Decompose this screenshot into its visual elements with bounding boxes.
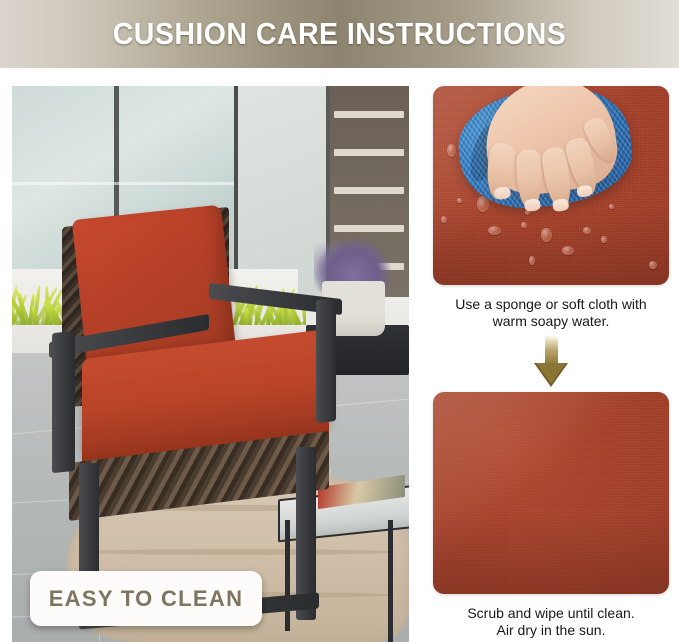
patio-scene bbox=[12, 86, 409, 642]
chair-arm-post-right bbox=[316, 298, 336, 424]
content-area: EASY TO CLEAN bbox=[0, 68, 679, 642]
step-2-caption-line-2: Air dry in the sun. bbox=[433, 622, 669, 639]
step-1-image bbox=[433, 86, 669, 285]
step-1-caption: Use a sponge or soft cloth with warm soa… bbox=[433, 296, 669, 330]
step-2-caption-line-1: Scrub and wipe until clean. bbox=[433, 605, 669, 622]
patio-chair bbox=[36, 208, 369, 619]
lifestyle-photo: EASY TO CLEAN bbox=[12, 86, 409, 642]
step-1-caption-line-2: warm soapy water. bbox=[433, 313, 669, 330]
down-arrow-icon bbox=[534, 335, 568, 387]
step-1-caption-line-1: Use a sponge or soft cloth with bbox=[433, 296, 669, 313]
easy-to-clean-label: EASY TO CLEAN bbox=[49, 586, 244, 612]
arrow-container bbox=[433, 330, 669, 392]
chair-arm-post-left bbox=[52, 331, 75, 473]
page-title: CUSHION CARE INSTRUCTIONS bbox=[113, 16, 567, 52]
header-banner: CUSHION CARE INSTRUCTIONS bbox=[0, 0, 679, 68]
easy-to-clean-badge: EASY TO CLEAN bbox=[30, 571, 262, 626]
fabric-sheen bbox=[433, 392, 669, 594]
step-2-caption: Scrub and wipe until clean. Air dry in t… bbox=[433, 605, 669, 639]
step-2-image bbox=[433, 392, 669, 594]
instruction-column: Use a sponge or soft cloth with warm soa… bbox=[433, 86, 669, 642]
